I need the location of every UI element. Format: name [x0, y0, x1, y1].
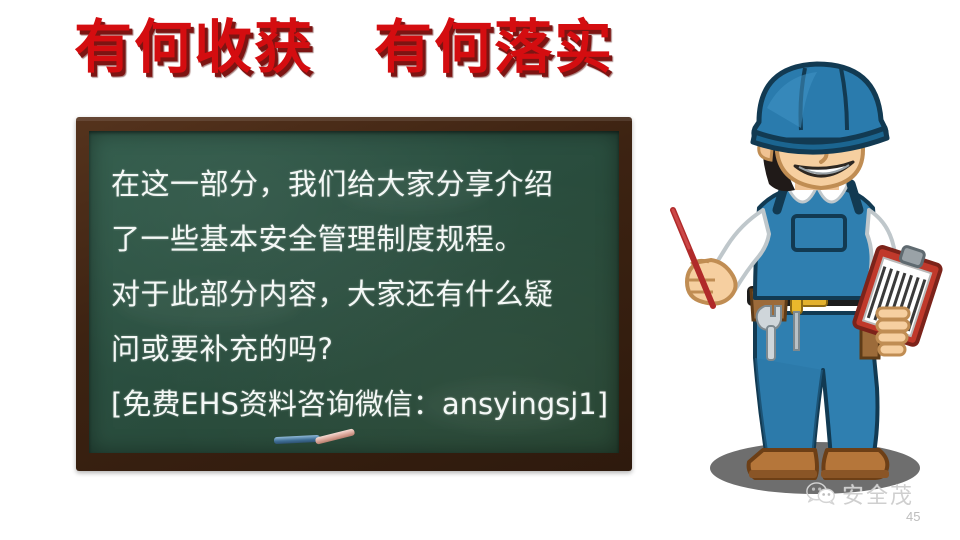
blue-chalk-icon [274, 435, 320, 444]
blackboard-line: 在这一部分，我们给大家分享介绍 [111, 157, 609, 212]
wechat-icon [806, 481, 836, 507]
blackboard-line: 了一些基本安全管理制度规程。 [111, 212, 609, 267]
blackboard-line-contact: [免费EHS资料咨询微信：ansyingsj1] [111, 377, 609, 432]
blackboard-line: 问或要补充的吗? [111, 322, 609, 377]
page-title: 有何收获 有何落实 [74, 14, 614, 81]
watermark-label: 安全茂 [842, 478, 914, 510]
blackboard-frame: 在这一部分，我们给大家分享介绍 了一些基本安全管理制度规程。 对于此部分内容，大… [76, 117, 632, 471]
blackboard-text: 在这一部分，我们给大家分享介绍 了一些基本安全管理制度规程。 对于此部分内容，大… [111, 157, 609, 432]
watermark: 安全茂 [806, 478, 914, 510]
page-number: 45 [906, 509, 920, 524]
safety-worker-illustration [655, 58, 955, 498]
blackboard-line: 对于此部分内容，大家还有什么疑 [111, 267, 609, 322]
blackboard-surface: 在这一部分，我们给大家分享介绍 了一些基本安全管理制度规程。 对于此部分内容，大… [89, 131, 619, 453]
